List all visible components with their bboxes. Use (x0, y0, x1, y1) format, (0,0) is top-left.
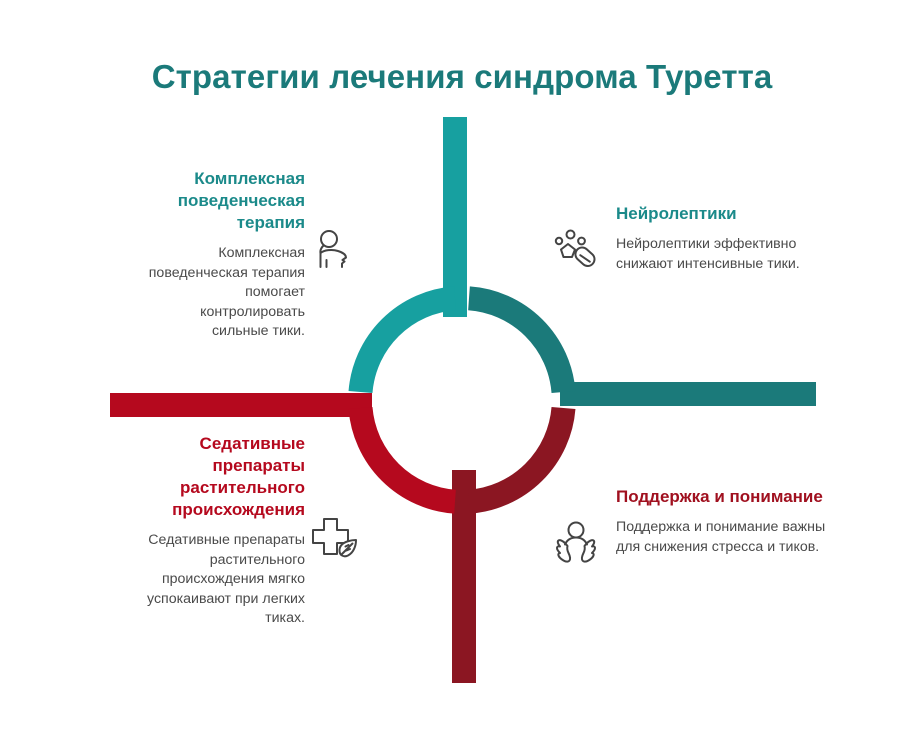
stem-right (560, 382, 816, 406)
medical-cross-leaf-icon (310, 516, 362, 562)
quadrant-block-support: Поддержка и понимание Поддержка и понима… (616, 486, 826, 557)
quadrant-body-neuroleptics: Нейролептики эффективно снижают интенсив… (616, 235, 816, 274)
quadrant-heading-sedatives: Седативные препараты растительного проис… (130, 433, 305, 521)
head-thought-icon (312, 227, 356, 271)
stem-top (443, 117, 467, 317)
pills-icon (552, 228, 598, 274)
arc-top-right (469, 298, 564, 392)
quadrant-block-neuroleptics: Нейролептики Нейролептики эффективно сни… (616, 203, 816, 274)
quadrant-body-sedatives: Седативные препараты растительного проис… (130, 531, 305, 629)
quadrant-heading-neuroleptics: Нейролептики (616, 203, 816, 225)
quadrant-heading-support: Поддержка и понимание (616, 486, 826, 508)
arc-bottom-left (361, 408, 456, 502)
quadrant-body-support: Поддержка и понимание важны для снижения… (616, 518, 826, 557)
stem-left (110, 393, 372, 417)
quadrant-heading-cbt: Комплексная поведенческая терапия (140, 168, 305, 234)
arc-top-left (361, 298, 456, 392)
arc-bottom-right (469, 408, 564, 502)
quadrant-block-cbt: Комплексная поведенческая терапия Компле… (140, 168, 305, 342)
quadrant-body-cbt: Комплексная поведенческая терапия помога… (140, 244, 305, 342)
person-raised-hands-icon (552, 521, 600, 567)
quadrant-block-sedatives: Седативные препараты растительного проис… (130, 433, 305, 629)
infographic-canvas: Стратегии лечения синдрома Туретта Компл… (0, 0, 924, 732)
